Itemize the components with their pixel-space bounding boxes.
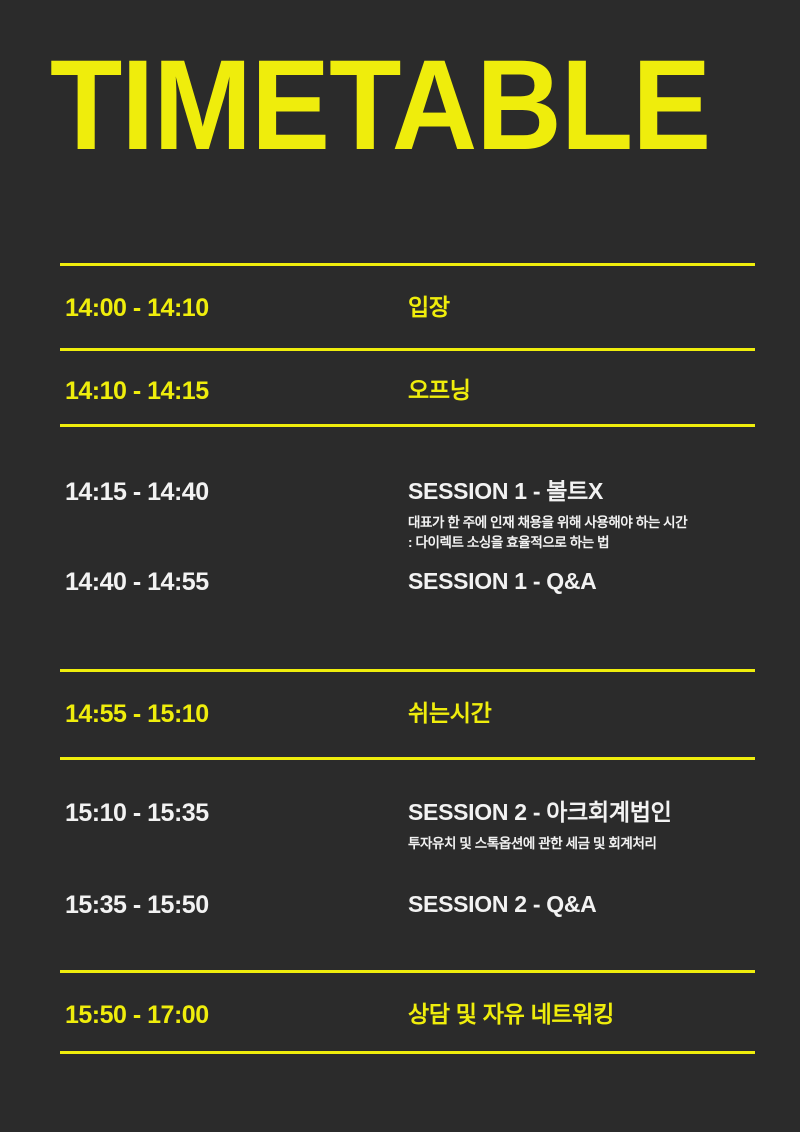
row-description: 입장 bbox=[408, 293, 755, 321]
row-subtitle: 대표가 한 주에 인재 채용을 위해 사용해야 하는 시간 : 다이렉트 소싱을… bbox=[408, 513, 755, 553]
title-block: TIMETABLE bbox=[50, 42, 754, 172]
schedule-table: 14:00 - 14:10 입장 14:10 - 14:15 오프닝 14:15… bbox=[60, 263, 755, 1054]
row-label: SESSION 1 - 볼트X bbox=[408, 477, 755, 505]
divider-line bbox=[60, 1051, 755, 1054]
row-label: 상담 및 자유 네트워킹 bbox=[408, 1000, 755, 1028]
table-row: 14:40 - 14:55 SESSION 1 - Q&A bbox=[60, 559, 755, 669]
row-time: 14:40 - 14:55 bbox=[65, 567, 408, 597]
row-time: 14:10 - 14:15 bbox=[65, 376, 408, 406]
table-row: 14:15 - 14:40 SESSION 1 - 볼트X 대표가 한 주에 인… bbox=[60, 427, 755, 559]
row-subtitle-line2: : 다이렉트 소싱을 효율적으로 하는 법 bbox=[408, 533, 755, 553]
row-subtitle-line1: 투자유치 및 스톡옵션에 관한 세금 및 회계처리 bbox=[408, 834, 755, 854]
row-time: 14:15 - 14:40 bbox=[65, 477, 408, 507]
row-description: SESSION 2 - Q&A bbox=[408, 890, 755, 918]
page-title: TIMETABLE bbox=[50, 42, 701, 170]
timetable-poster: TIMETABLE 14:00 - 14:10 입장 14:10 - 14:15… bbox=[0, 0, 800, 1132]
row-label: SESSION 2 - 아크회계법인 bbox=[408, 798, 755, 826]
row-description: 상담 및 자유 네트워킹 bbox=[408, 1000, 755, 1028]
table-row: 15:10 - 15:35 SESSION 2 - 아크회계법인 투자유치 및 … bbox=[60, 760, 755, 882]
row-description: SESSION 1 - Q&A bbox=[408, 567, 755, 595]
row-description: 오프닝 bbox=[408, 376, 755, 404]
row-time: 15:10 - 15:35 bbox=[65, 798, 408, 828]
table-row: 15:35 - 15:50 SESSION 2 - Q&A bbox=[60, 882, 755, 970]
row-time: 15:50 - 17:00 bbox=[65, 1000, 408, 1030]
row-description: 쉬는시간 bbox=[408, 699, 755, 727]
row-description: SESSION 2 - 아크회계법인 투자유치 및 스톡옵션에 관한 세금 및 … bbox=[408, 798, 755, 854]
row-subtitle: 투자유치 및 스톡옵션에 관한 세금 및 회계처리 bbox=[408, 834, 755, 854]
table-row: 15:50 - 17:00 상담 및 자유 네트워킹 bbox=[60, 973, 755, 1051]
row-time: 15:35 - 15:50 bbox=[65, 890, 408, 920]
row-label: SESSION 2 - Q&A bbox=[408, 890, 755, 918]
table-row: 14:55 - 15:10 쉬는시간 bbox=[60, 672, 755, 757]
row-label: 오프닝 bbox=[408, 376, 755, 404]
row-label: 쉬는시간 bbox=[408, 699, 755, 727]
table-row: 14:10 - 14:15 오프닝 bbox=[60, 351, 755, 424]
row-label: 입장 bbox=[408, 293, 755, 321]
row-time: 14:00 - 14:10 bbox=[65, 293, 408, 323]
table-row: 14:00 - 14:10 입장 bbox=[60, 266, 755, 348]
row-time: 14:55 - 15:10 bbox=[65, 699, 408, 729]
row-label: SESSION 1 - Q&A bbox=[408, 567, 755, 595]
row-subtitle-line1: 대표가 한 주에 인재 채용을 위해 사용해야 하는 시간 bbox=[408, 513, 755, 533]
row-description: SESSION 1 - 볼트X 대표가 한 주에 인재 채용을 위해 사용해야 … bbox=[408, 477, 755, 553]
